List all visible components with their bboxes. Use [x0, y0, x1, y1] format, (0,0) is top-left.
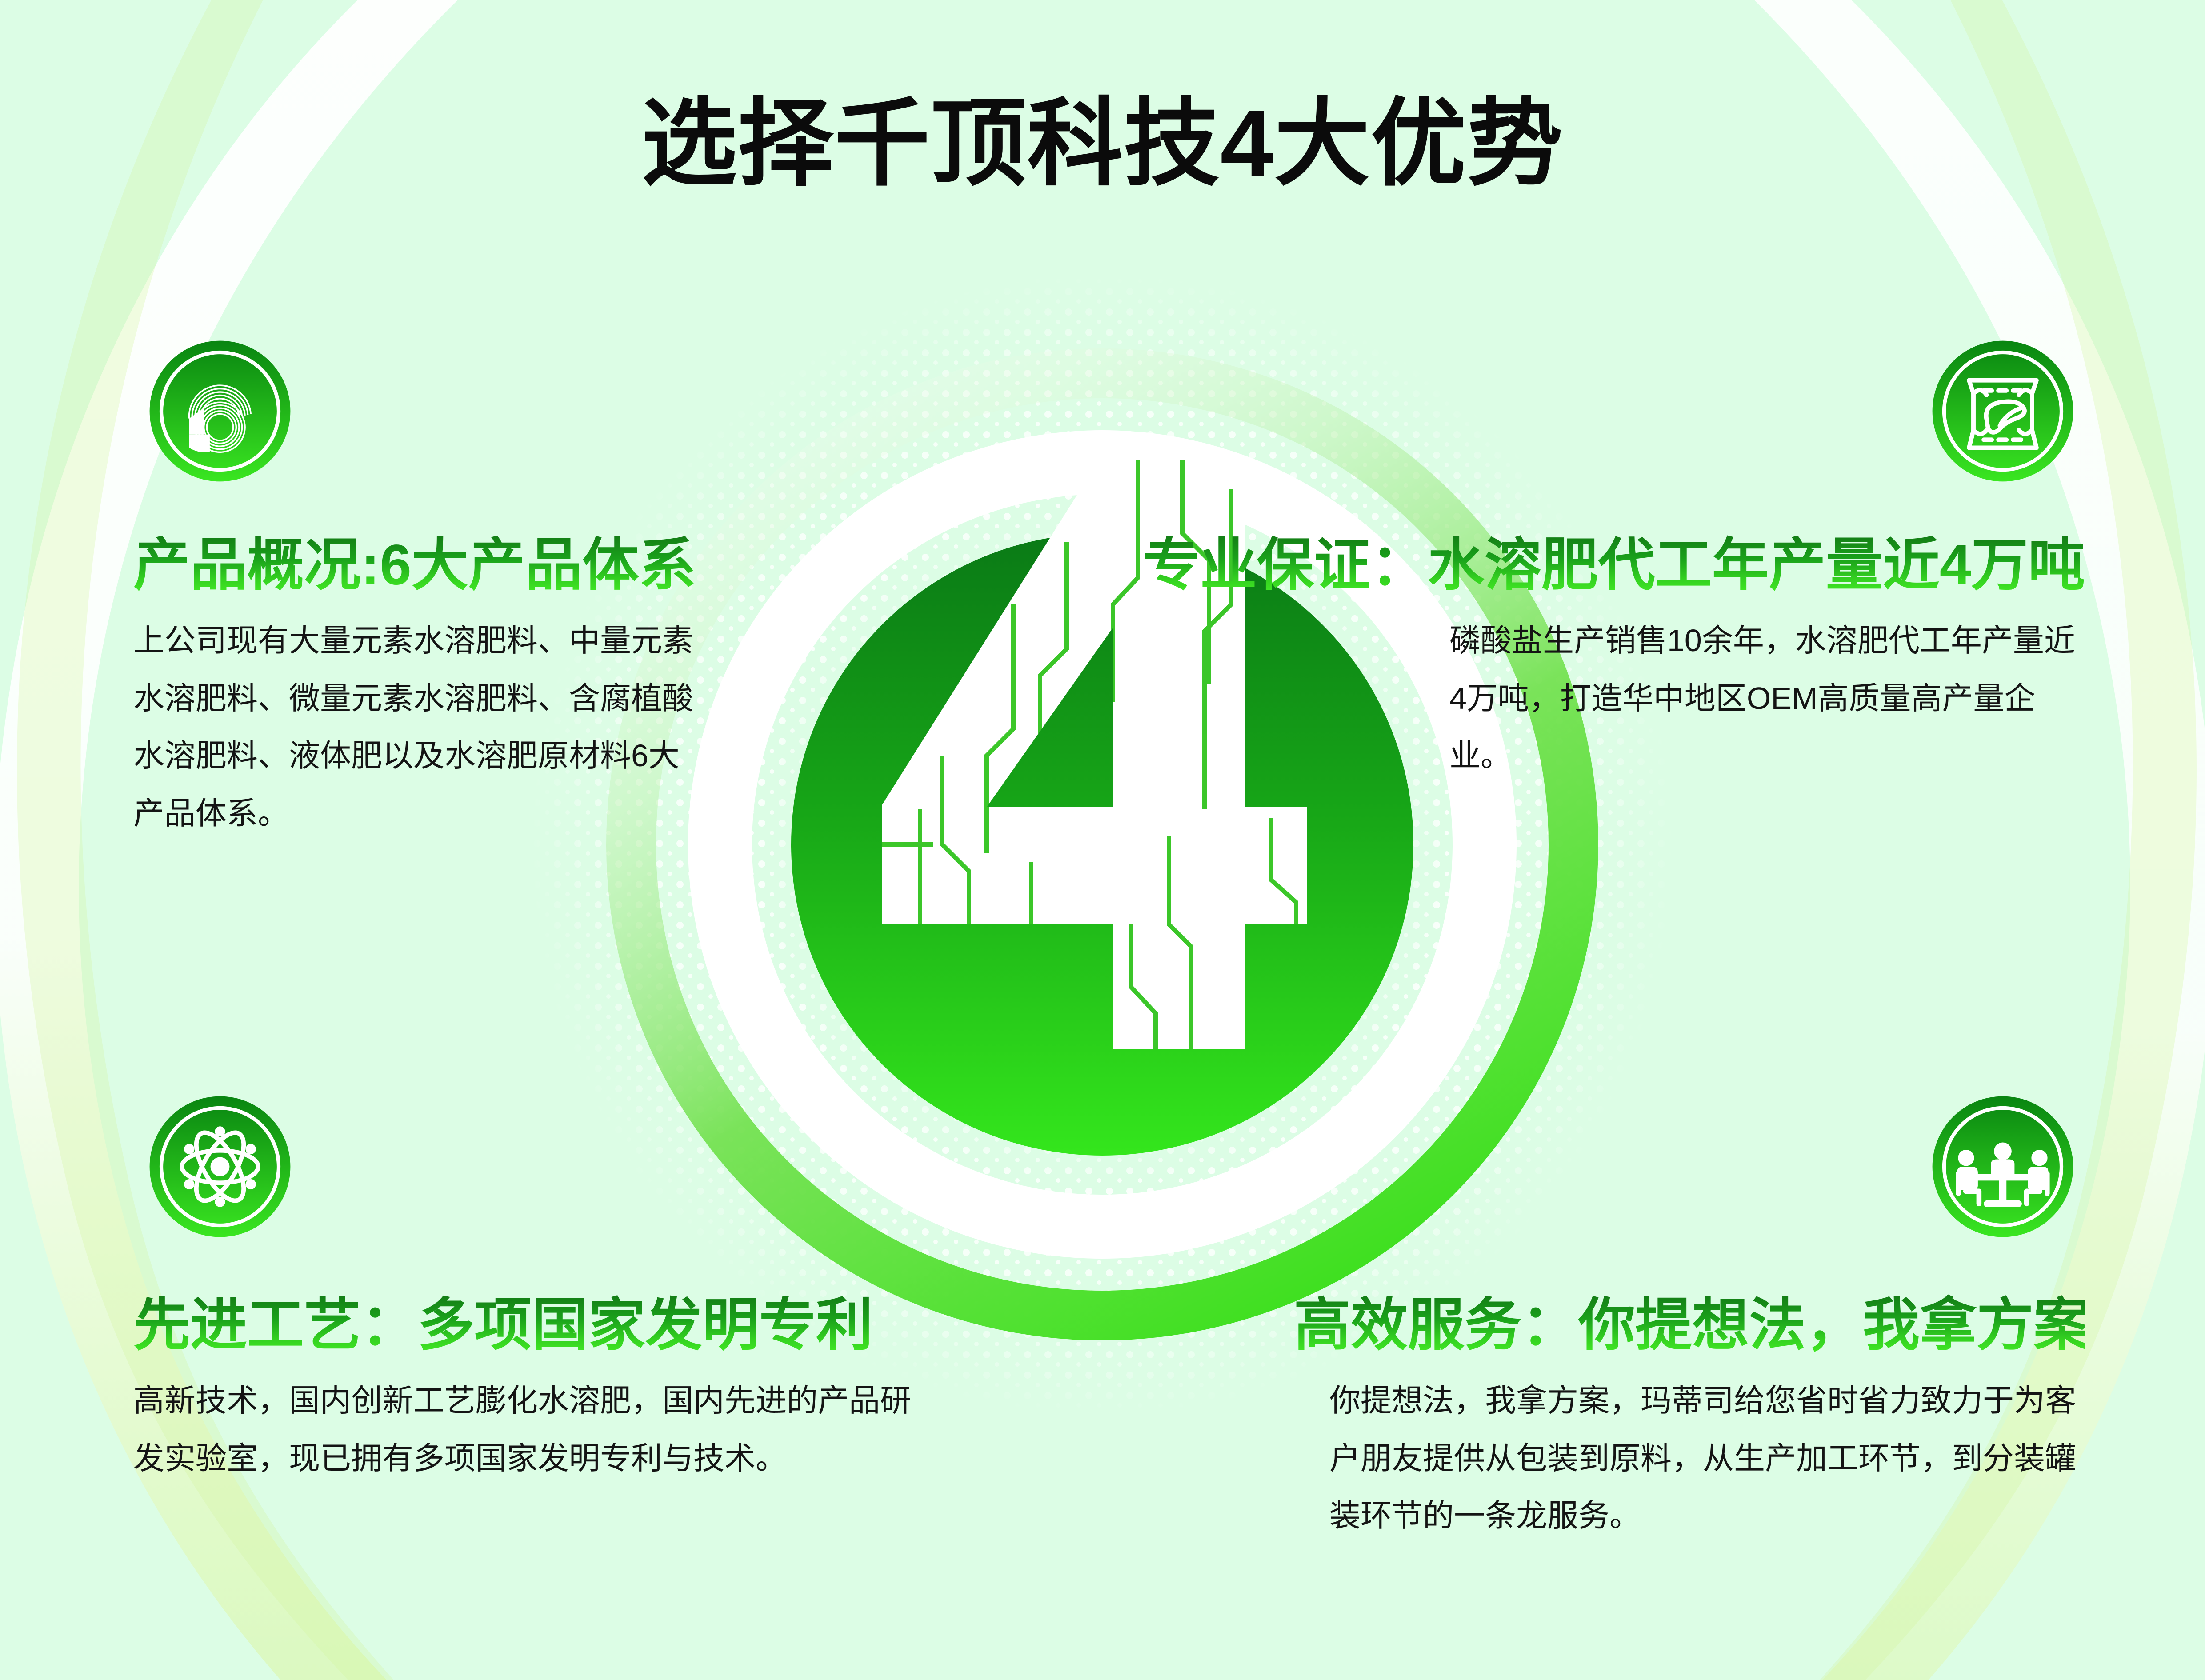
advantage-heading: 专业保证：水溶肥代工年产量近4万吨 — [1125, 533, 2085, 597]
advantage-body: 上公司现有大量元素水溶肥料、中量元素水溶肥料、微量元素水溶肥料、含腐植酸水溶肥料… — [133, 612, 707, 842]
center-medallion — [569, 311, 1636, 1378]
advantage-body: 你提想法，我拿方案，玛蒂司给您省时省力致力于为客户朋友提供从包装到原料，从生产加… — [1329, 1372, 2085, 1545]
advantage-body: 磷酸盐生产销售10余年，水溶肥代工年产量近4万吨，打造华中地区OEM高质量高产量… — [1449, 612, 2085, 785]
advantage-heading: 先进工艺：多项国家发明专利 — [133, 1293, 924, 1357]
fertilizer-bag-icon — [1929, 338, 2076, 484]
advantage-body: 高新技术，国内创新工艺膨化水溶肥，国内先进的产品研发实验室，现已拥有多项国家发明… — [133, 1372, 924, 1487]
advantage-text-bottom-left: 先进工艺：多项国家发明专利 高新技术，国内创新工艺膨化水溶肥，国内先进的产品研发… — [133, 1293, 924, 1487]
advantage-text-top-right: 专业保证：水溶肥代工年产量近4万吨 磷酸盐生产销售10余年，水溶肥代工年产量近4… — [1125, 533, 2085, 785]
center-medallion-graphic — [569, 311, 1636, 1378]
atom-icon — [147, 1093, 293, 1240]
advantage-heading: 产品概况:6大产品体系 — [133, 533, 707, 597]
numeral-six-badge-icon — [147, 338, 293, 484]
advantage-text-top-left: 产品概况:6大产品体系 上公司现有大量元素水溶肥料、中量元素水溶肥料、微量元素水… — [133, 533, 707, 842]
advantage-text-bottom-right: 高效服务：你提想法，我拿方案 你提想法，我拿方案，玛蒂司给您省时省力致力于为客户… — [1294, 1293, 2085, 1545]
advantage-heading: 高效服务：你提想法，我拿方案 — [1294, 1293, 2085, 1357]
meeting-team-icon — [1929, 1093, 2076, 1240]
infographic-canvas: 选择千顶科技4大优势 — [0, 0, 2205, 1680]
page-title: 选择千顶科技4大优势 — [0, 91, 2205, 196]
